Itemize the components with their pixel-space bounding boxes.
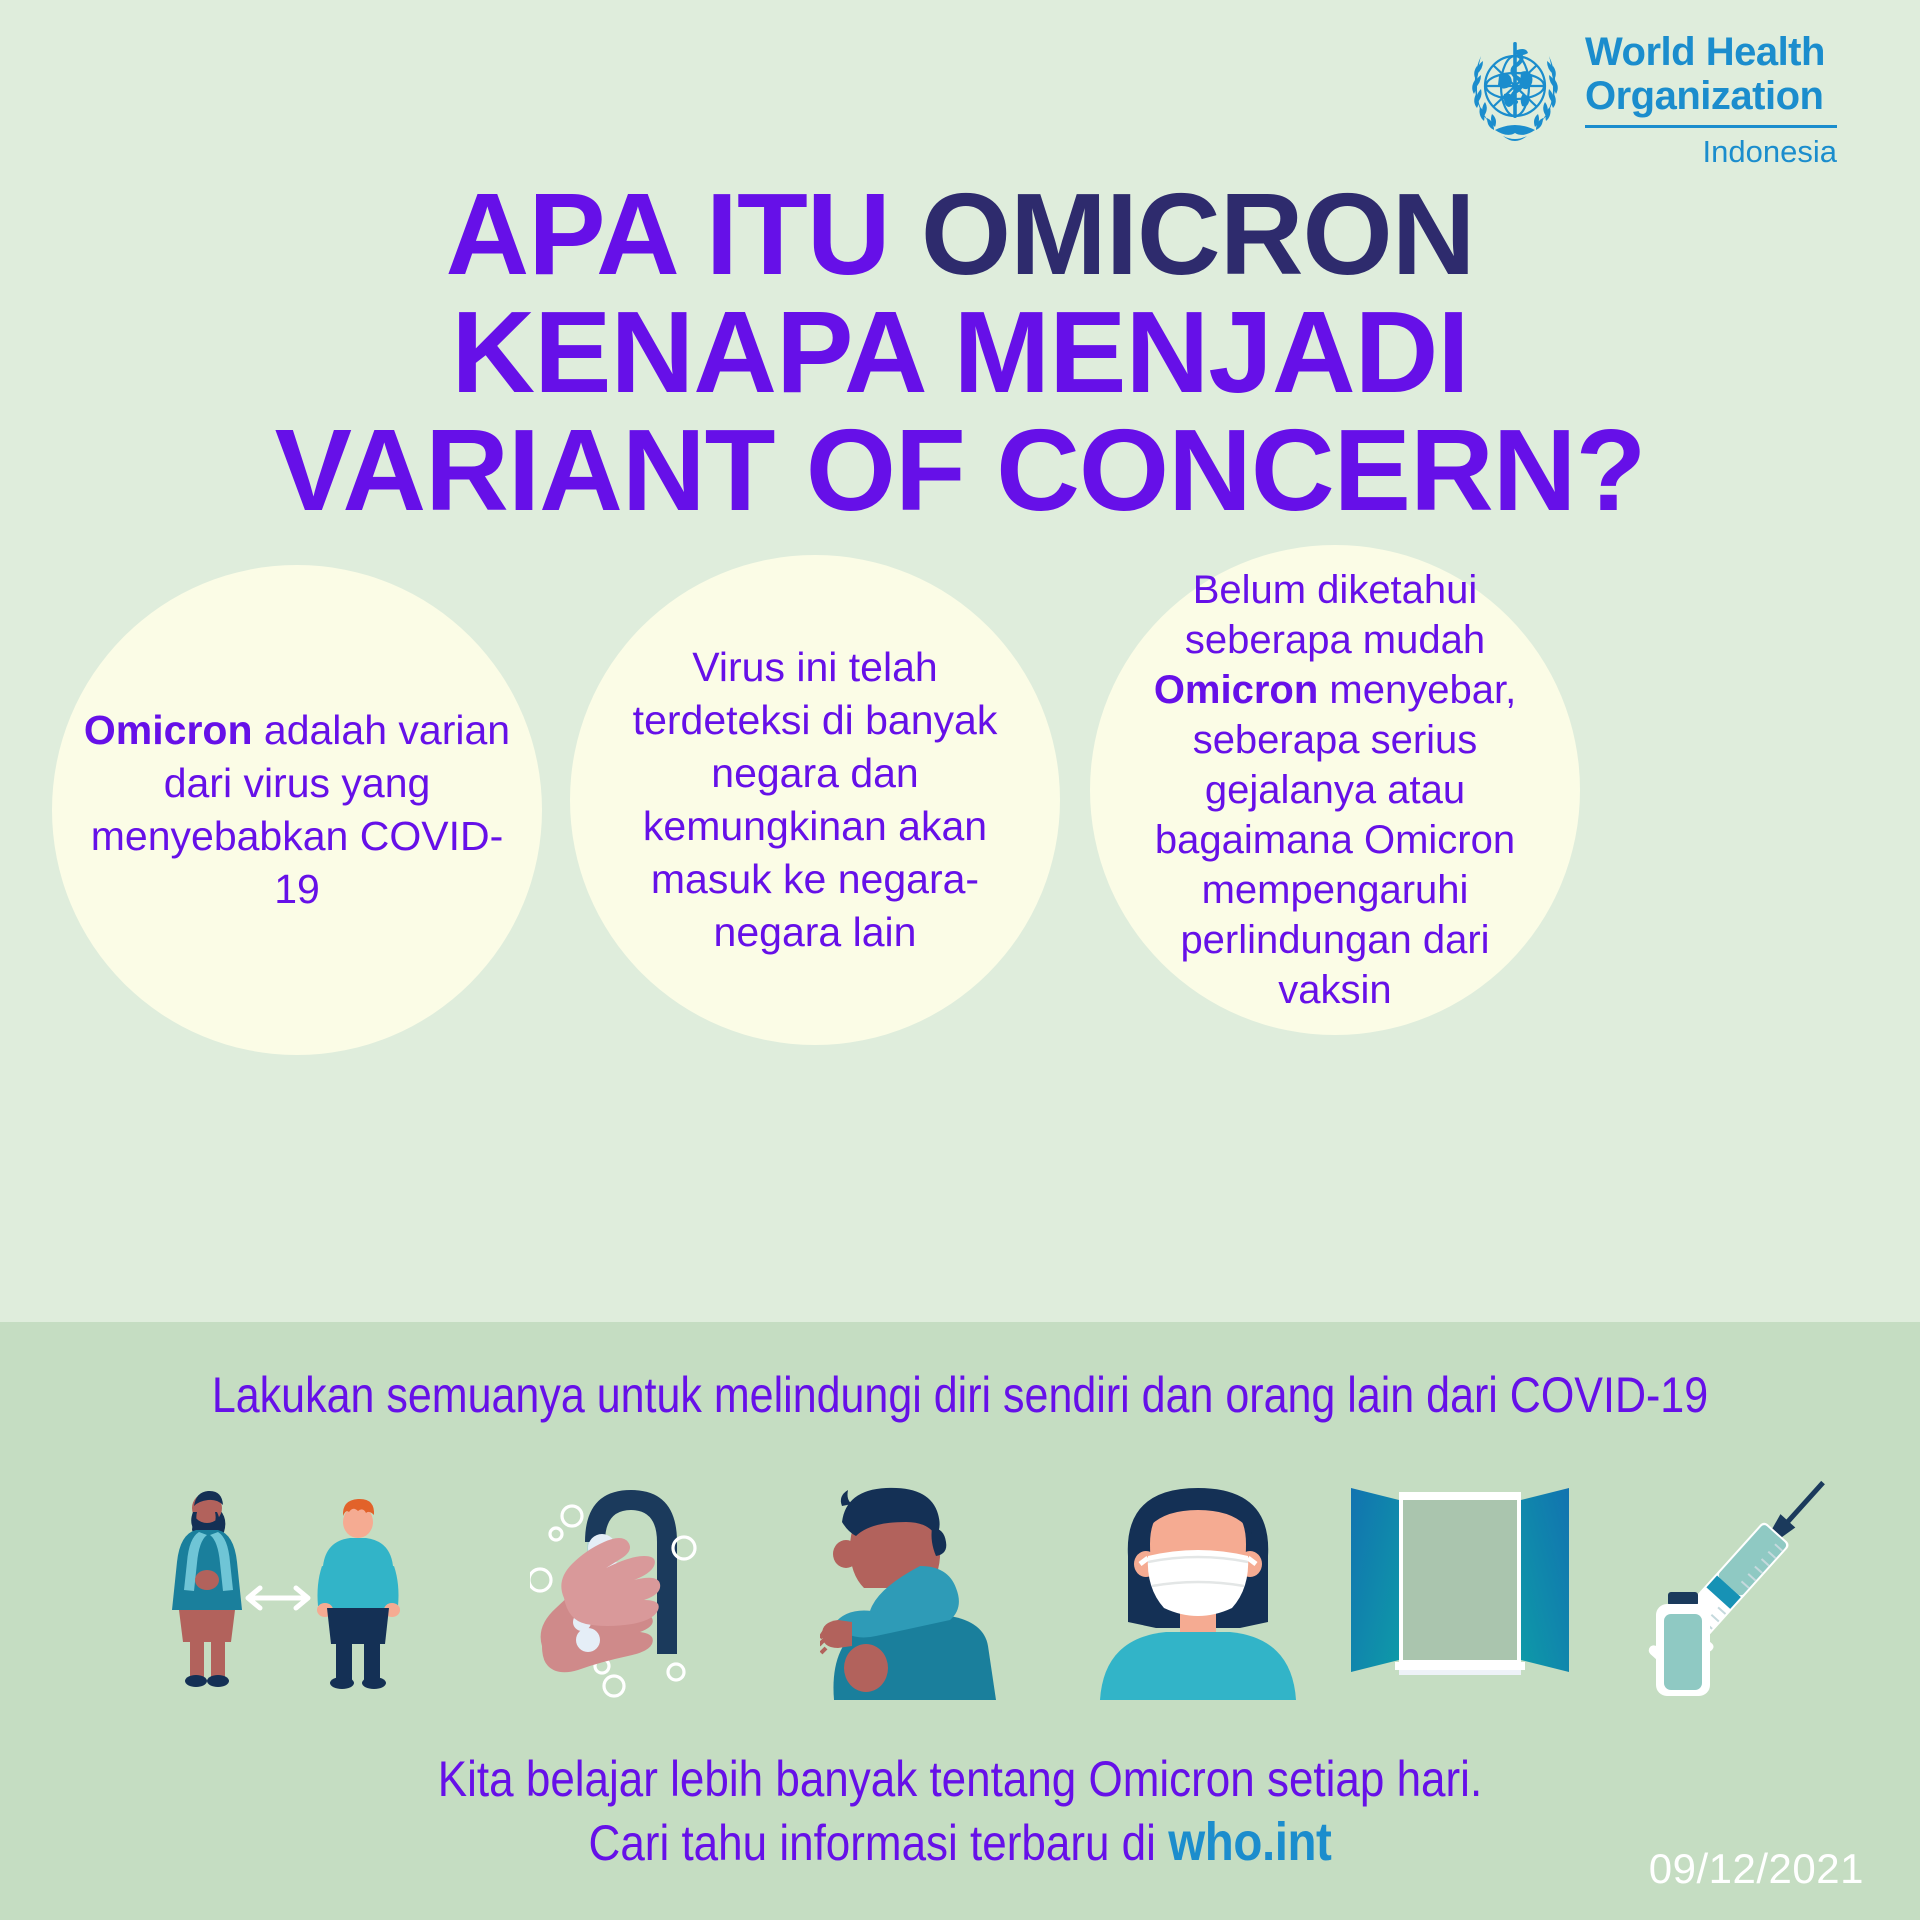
fact-circle-unknowns-rest: menyebar, seberapa serius gejalanya atau… xyxy=(1155,668,1516,1012)
who-wordmark: World Health Organization Indonesia xyxy=(1585,30,1885,170)
footer-line-1: Kita belajar lebih banyak tentang Omicro… xyxy=(115,1748,1805,1811)
page-title-line-1: APA ITU OMICRON xyxy=(0,175,1920,293)
footer-line-2: Cari tahu informasi terbaru di xyxy=(589,1815,1156,1871)
hand-washing-icon xyxy=(530,1470,745,1700)
footer-text: Kita belajar lebih banyak tentang Omicro… xyxy=(115,1748,1805,1875)
physical-distancing-icon xyxy=(160,1470,430,1700)
infographic-canvas: World Health Organization Indonesia APA … xyxy=(0,0,1920,1920)
wear-mask-icon xyxy=(1090,1470,1305,1700)
fact-circle-unknowns-bold: Omicron xyxy=(1154,668,1318,712)
page-title-line-2: KENAPA MENJADI xyxy=(0,293,1920,411)
page-title: APA ITU OMICRON KENAPA MENJADI VARIANT O… xyxy=(0,175,1920,529)
page-title-part-apa-itu: APA ITU xyxy=(446,169,921,299)
who-country-label: Indonesia xyxy=(1585,134,1837,170)
who-wordmark-line1: World Health xyxy=(1585,30,1885,74)
fact-circle-spread-text: Virus ini telah terdeteksi di banyak neg… xyxy=(603,641,1027,959)
fact-circle-unknowns: Belum diketahui seberapa mudah Omicron m… xyxy=(1090,545,1580,1035)
publication-date: 09/12/2021 xyxy=(1649,1845,1864,1893)
who-int-link[interactable]: who.int xyxy=(1156,1812,1332,1872)
fact-circle-definition: Omicron adalah varian dari virus yang me… xyxy=(52,565,542,1055)
fact-circles: Omicron adalah varian dari virus yang me… xyxy=(0,555,1920,1075)
fact-circle-definition-bold: Omicron xyxy=(84,707,253,753)
who-wordmark-line2: Organization xyxy=(1585,74,1885,118)
protection-banner-text: Lakukan semuanya untuk melindungi diri s… xyxy=(134,1366,1785,1424)
who-wordmark-divider xyxy=(1585,125,1837,128)
fact-circle-unknowns-pre: Belum diketahui seberapa mudah xyxy=(1185,568,1485,662)
fact-circle-unknowns-text: Belum diketahui seberapa mudah Omicron m… xyxy=(1123,565,1547,1015)
vaccine-syringe-icon xyxy=(1630,1470,1850,1700)
page-title-line-3: VARIANT OF CONCERN? xyxy=(0,411,1920,529)
who-emblem-icon xyxy=(1455,32,1575,152)
prevention-icon-row xyxy=(0,1470,1920,1700)
page-title-part-omicron: OMICRON xyxy=(921,169,1475,299)
cough-into-elbow-icon xyxy=(820,1470,1050,1700)
fact-circle-spread-rest: Virus ini telah terdeteksi di banyak neg… xyxy=(633,644,998,955)
fact-circle-spread: Virus ini telah terdeteksi di banyak neg… xyxy=(570,555,1060,1045)
footer-line-2-wrap: Cari tahu informasi terbaru diwho.int xyxy=(115,1811,1805,1875)
fact-circle-definition-text: Omicron adalah varian dari virus yang me… xyxy=(70,704,524,916)
open-window-ventilation-icon xyxy=(1345,1470,1575,1700)
who-logo-block: World Health Organization Indonesia xyxy=(1455,28,1885,188)
